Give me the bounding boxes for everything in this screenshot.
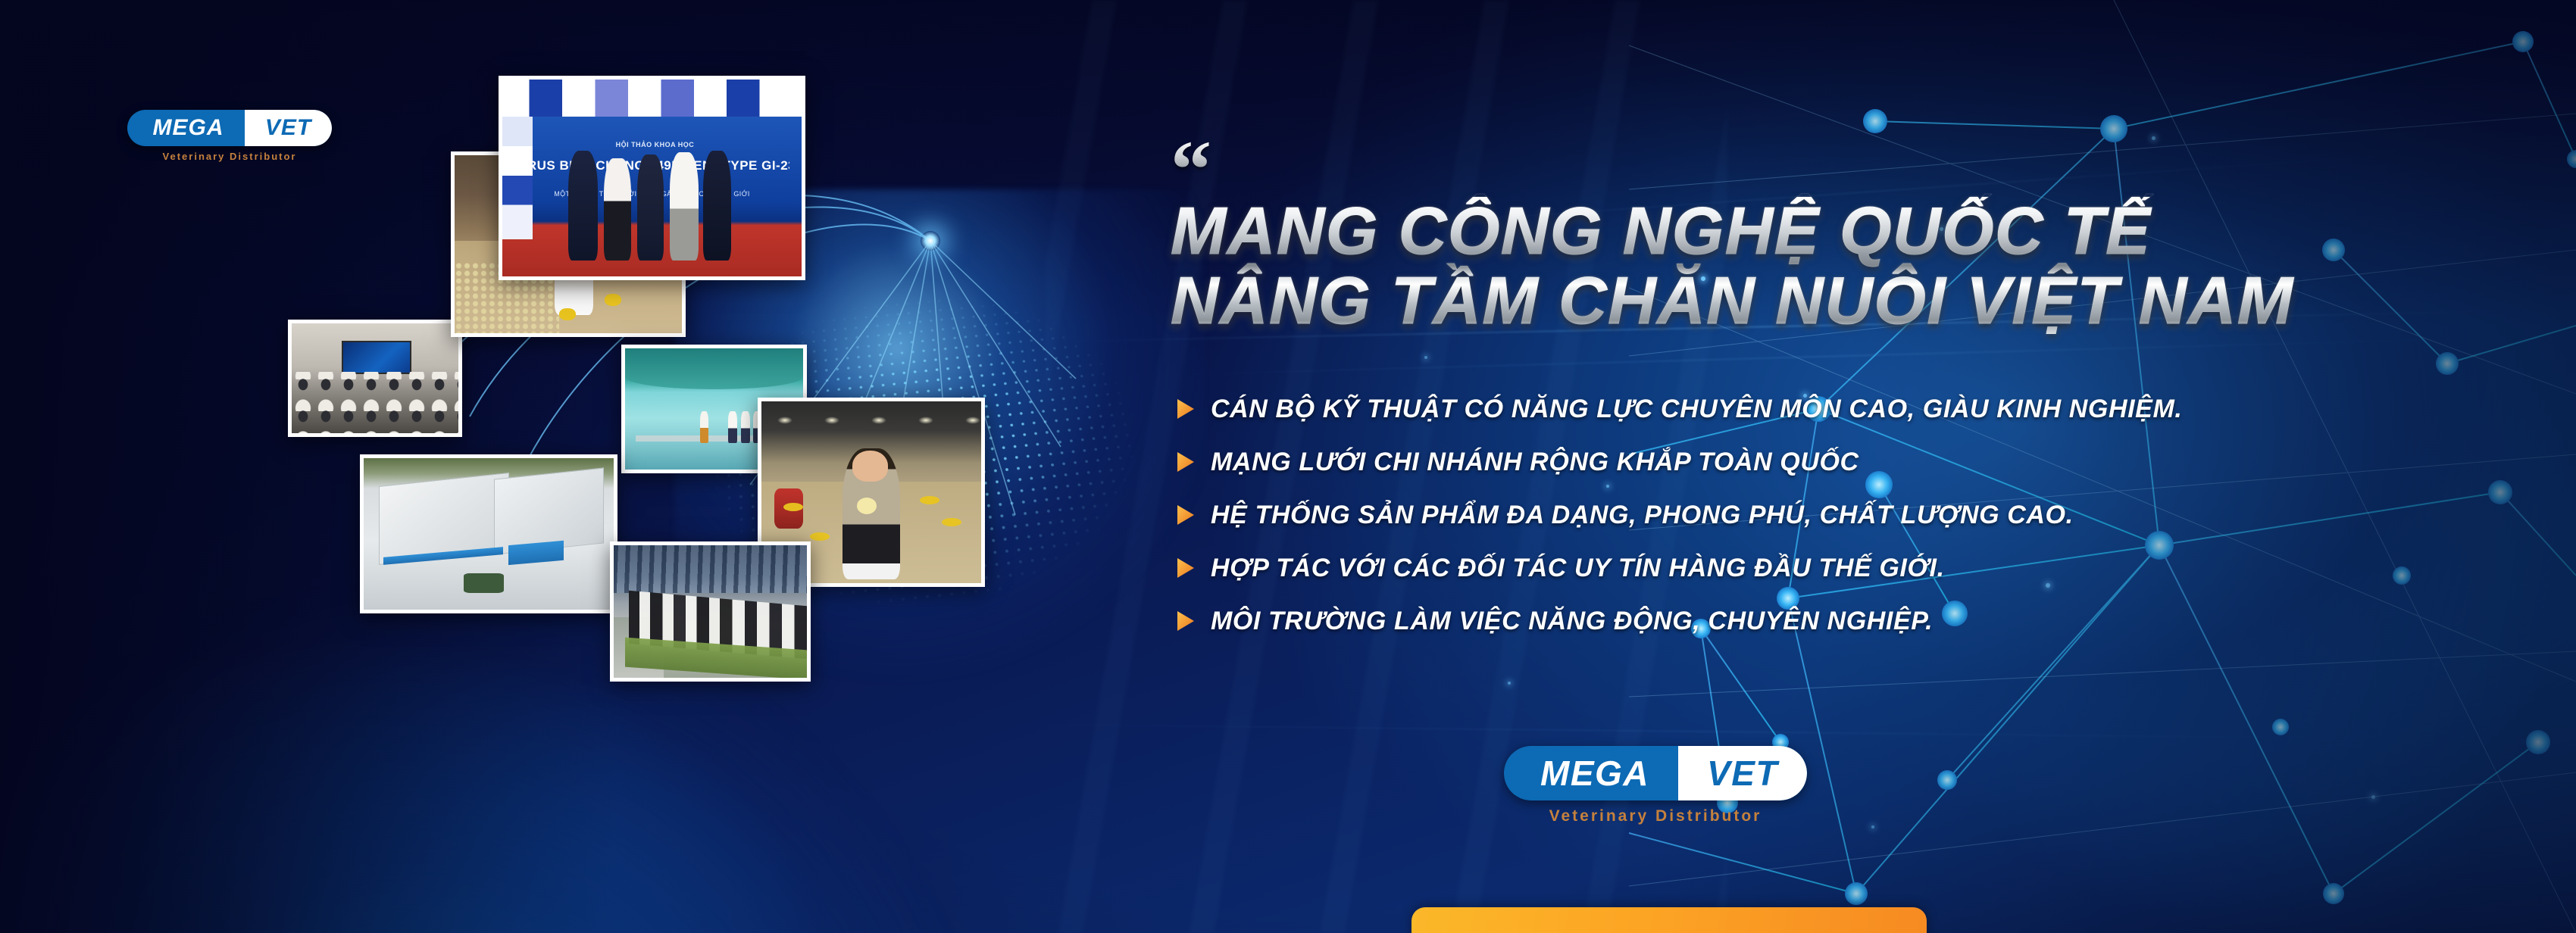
feature-list: CÁN BỘ KỸ THUẬT CÓ NĂNG LỰC CHUYÊN MÔN C… [1176, 392, 2274, 657]
logo-mega-text: MEGA [1504, 746, 1678, 800]
headline-line-2: NÂNG TẦM CHĂN NUÔI VIỆT NAM [1171, 267, 2307, 335]
list-item-label: MÔI TRƯỜNG LÀM VIỆC NĂNG ĐỘNG, CHUYÊN NG… [1211, 607, 1933, 636]
list-item: MẠNG LƯỚI CHI NHÁNH RỘNG KHẮP TOÀN QUỐC [1176, 445, 2274, 479]
logo-pill: MEGA VET [1504, 746, 1807, 800]
headline-block: “ MANG CÔNG NGHỆ QUỐC TẾ NÂNG TẦM CHĂN N… [1171, 141, 2307, 334]
megavet-banner: HỘI THẢO KHOA HỌC VIRUS BIẾN CHỦNG 1495 … [0, 0, 2576, 933]
photo-conference-group: HỘI THẢO KHOA HỌC VIRUS BIẾN CHỦNG 1495 … [499, 76, 805, 280]
triangle-right-icon [1176, 610, 1196, 632]
list-item: MÔI TRƯỜNG LÀM VIỆC NĂNG ĐỘNG, CHUYÊN NG… [1176, 604, 2274, 638]
list-item: CÁN BỘ KỸ THUẬT CÓ NĂNG LỰC CHUYÊN MÔN C… [1176, 392, 2274, 426]
triangle-right-icon [1176, 398, 1196, 420]
headline: MANG CÔNG NGHỆ QUỐC TẾ NÂNG TẦM CHĂN NUÔ… [1171, 197, 2307, 335]
list-item: HỢP TÁC VỚI CÁC ĐỐI TÁC UY TÍN HÀNG ĐẦU … [1176, 551, 2274, 585]
logo-bottom-center[interactable]: MEGA VET Veterinary Distributor [1504, 746, 1807, 825]
list-item-label: HỆ THỐNG SẢN PHẨM ĐA DẠNG, PHONG PHÚ, CH… [1211, 501, 2074, 530]
triangle-right-icon [1176, 504, 1196, 526]
list-item-label: HỢP TÁC VỚI CÁC ĐỐI TÁC UY TÍN HÀNG ĐẦU … [1211, 554, 1945, 583]
triangle-right-icon [1176, 451, 1196, 473]
photo-seminar-hall [288, 320, 462, 437]
logo-vet-text: VET [1707, 753, 1778, 794]
headline-line-1: MANG CÔNG NGHỆ QUỐC TẾ [1171, 193, 2151, 268]
logo-mega-text: MEGA [127, 110, 245, 146]
triangle-right-icon [1176, 557, 1196, 579]
orange-cta-bar[interactable] [1411, 907, 1927, 933]
quote-mark-icon: “ [1171, 141, 2307, 200]
photo-aerial-factory [360, 454, 617, 613]
list-item-label: CÁN BỘ KỸ THUẬT CÓ NĂNG LỰC CHUYÊN MÔN C… [1211, 395, 2182, 424]
list-item-label: MẠNG LƯỚI CHI NHÁNH RỘNG KHẮP TOÀN QUỐC [1211, 448, 1859, 477]
list-item: HỆ THỐNG SẢN PHẨM ĐA DẠNG, PHONG PHÚ, CH… [1176, 498, 2274, 532]
logo-vet-box: VET [1678, 746, 1807, 800]
photo-collage: HỘI THẢO KHOA HỌC VIRUS BIẾN CHỦNG 1495 … [288, 129, 1121, 704]
logo-vet-box: VET [245, 110, 332, 146]
logo-pill: MEGA VET [127, 110, 332, 146]
event-kicker: HỘI THẢO KHOA HỌC [527, 141, 784, 148]
logo-vet-text: VET [265, 115, 311, 141]
logo-top-left[interactable]: MEGA VET Veterinary Distributor [127, 110, 332, 162]
logo-tagline: Veterinary Distributor [1504, 807, 1807, 825]
logo-tagline: Veterinary Distributor [127, 151, 332, 162]
photo-dairy-cattle [610, 541, 811, 682]
